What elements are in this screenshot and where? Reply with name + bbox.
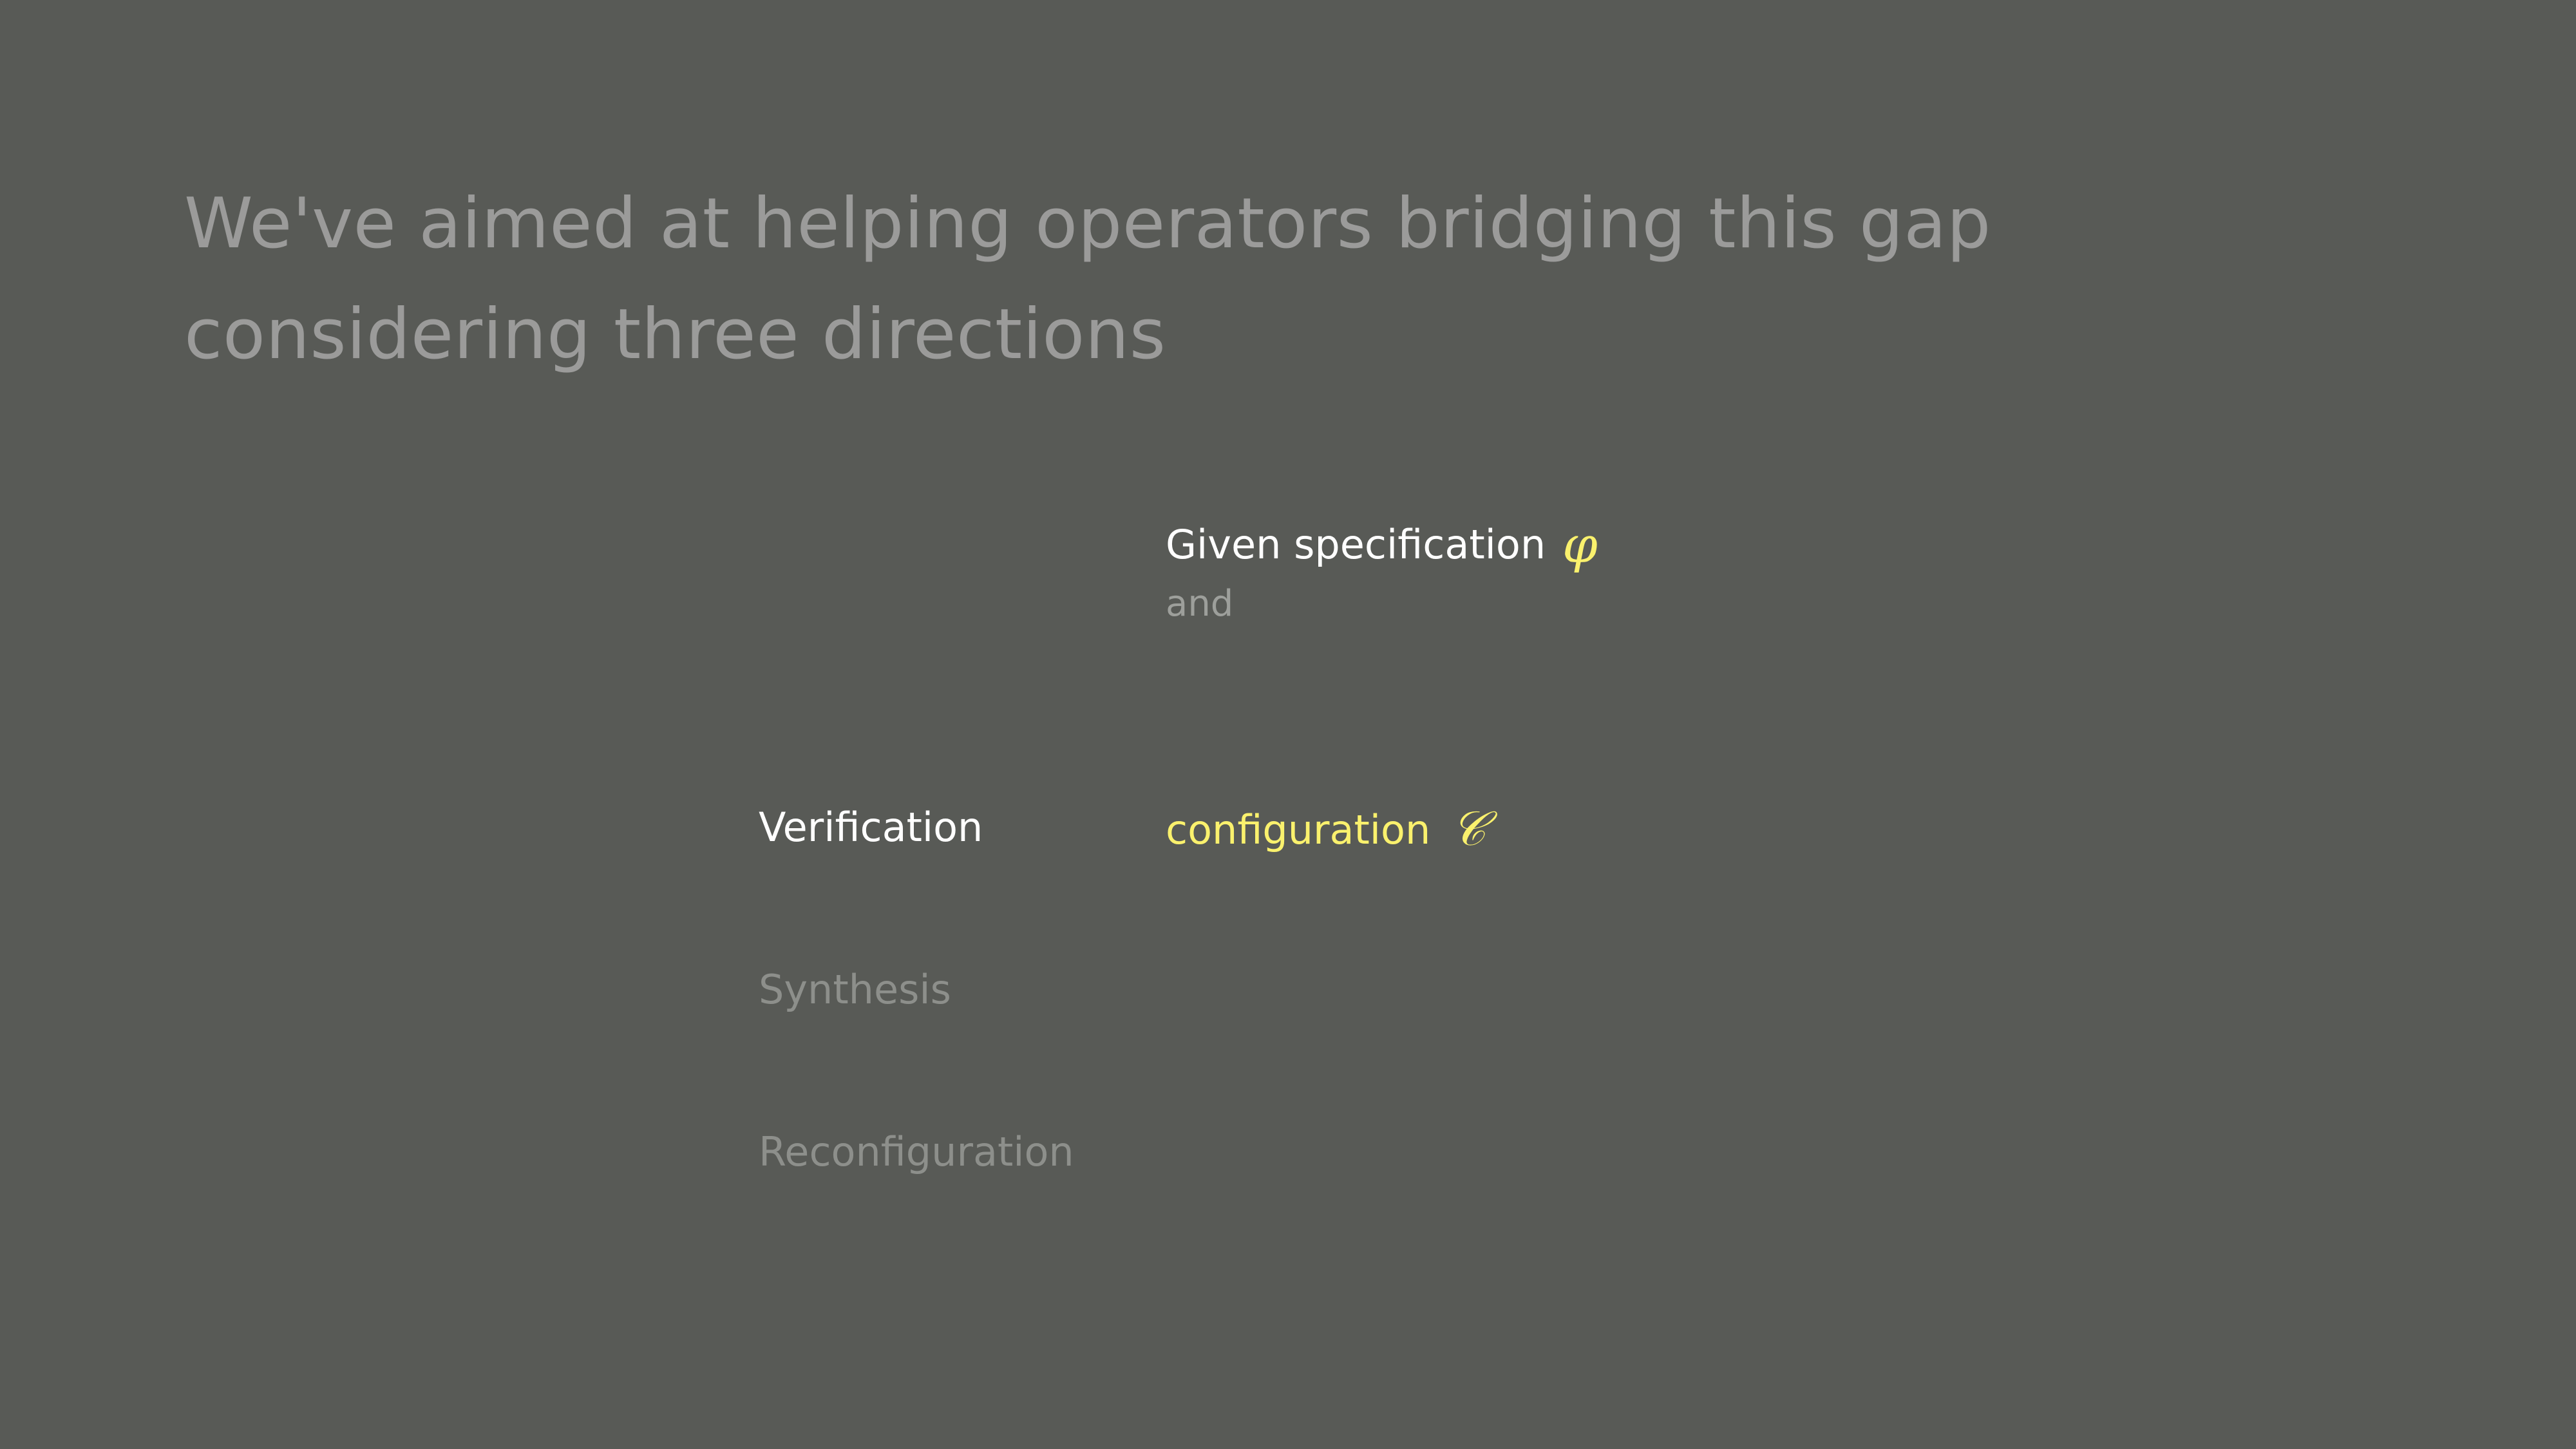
direction-detail-verification: configuration 𝒞	[1166, 799, 1486, 859]
given-specification-line: Given specification φ	[1166, 514, 2196, 573]
direction-row-verification[interactable]: Verification configuration 𝒞	[759, 799, 2433, 961]
given-specification-label: Given specification	[1166, 517, 1546, 573]
direction-label-verification[interactable]: Verification	[759, 799, 983, 857]
page-title: We've aimed at helping operators bridgin…	[184, 169, 2181, 390]
specification-and-label: and	[1166, 576, 2196, 632]
configuration-label: configuration	[1166, 801, 1430, 859]
script-c-symbol-icon: 𝒞	[1451, 800, 1486, 858]
direction-label-synthesis[interactable]: Synthesis	[759, 961, 951, 1019]
direction-row-reconfiguration[interactable]: Reconfiguration	[759, 1123, 2433, 1285]
direction-label-reconfiguration[interactable]: Reconfiguration	[759, 1123, 1074, 1181]
phi-symbol-icon: φ	[1562, 518, 1598, 573]
direction-row-synthesis[interactable]: Synthesis	[759, 961, 2433, 1123]
directions-list: Verification configuration 𝒞 Synthesis R…	[759, 799, 2433, 1285]
specification-block: Given specification φ and	[1166, 514, 2196, 632]
presentation-slide: We've aimed at helping operators bridgin…	[0, 0, 2576, 1449]
